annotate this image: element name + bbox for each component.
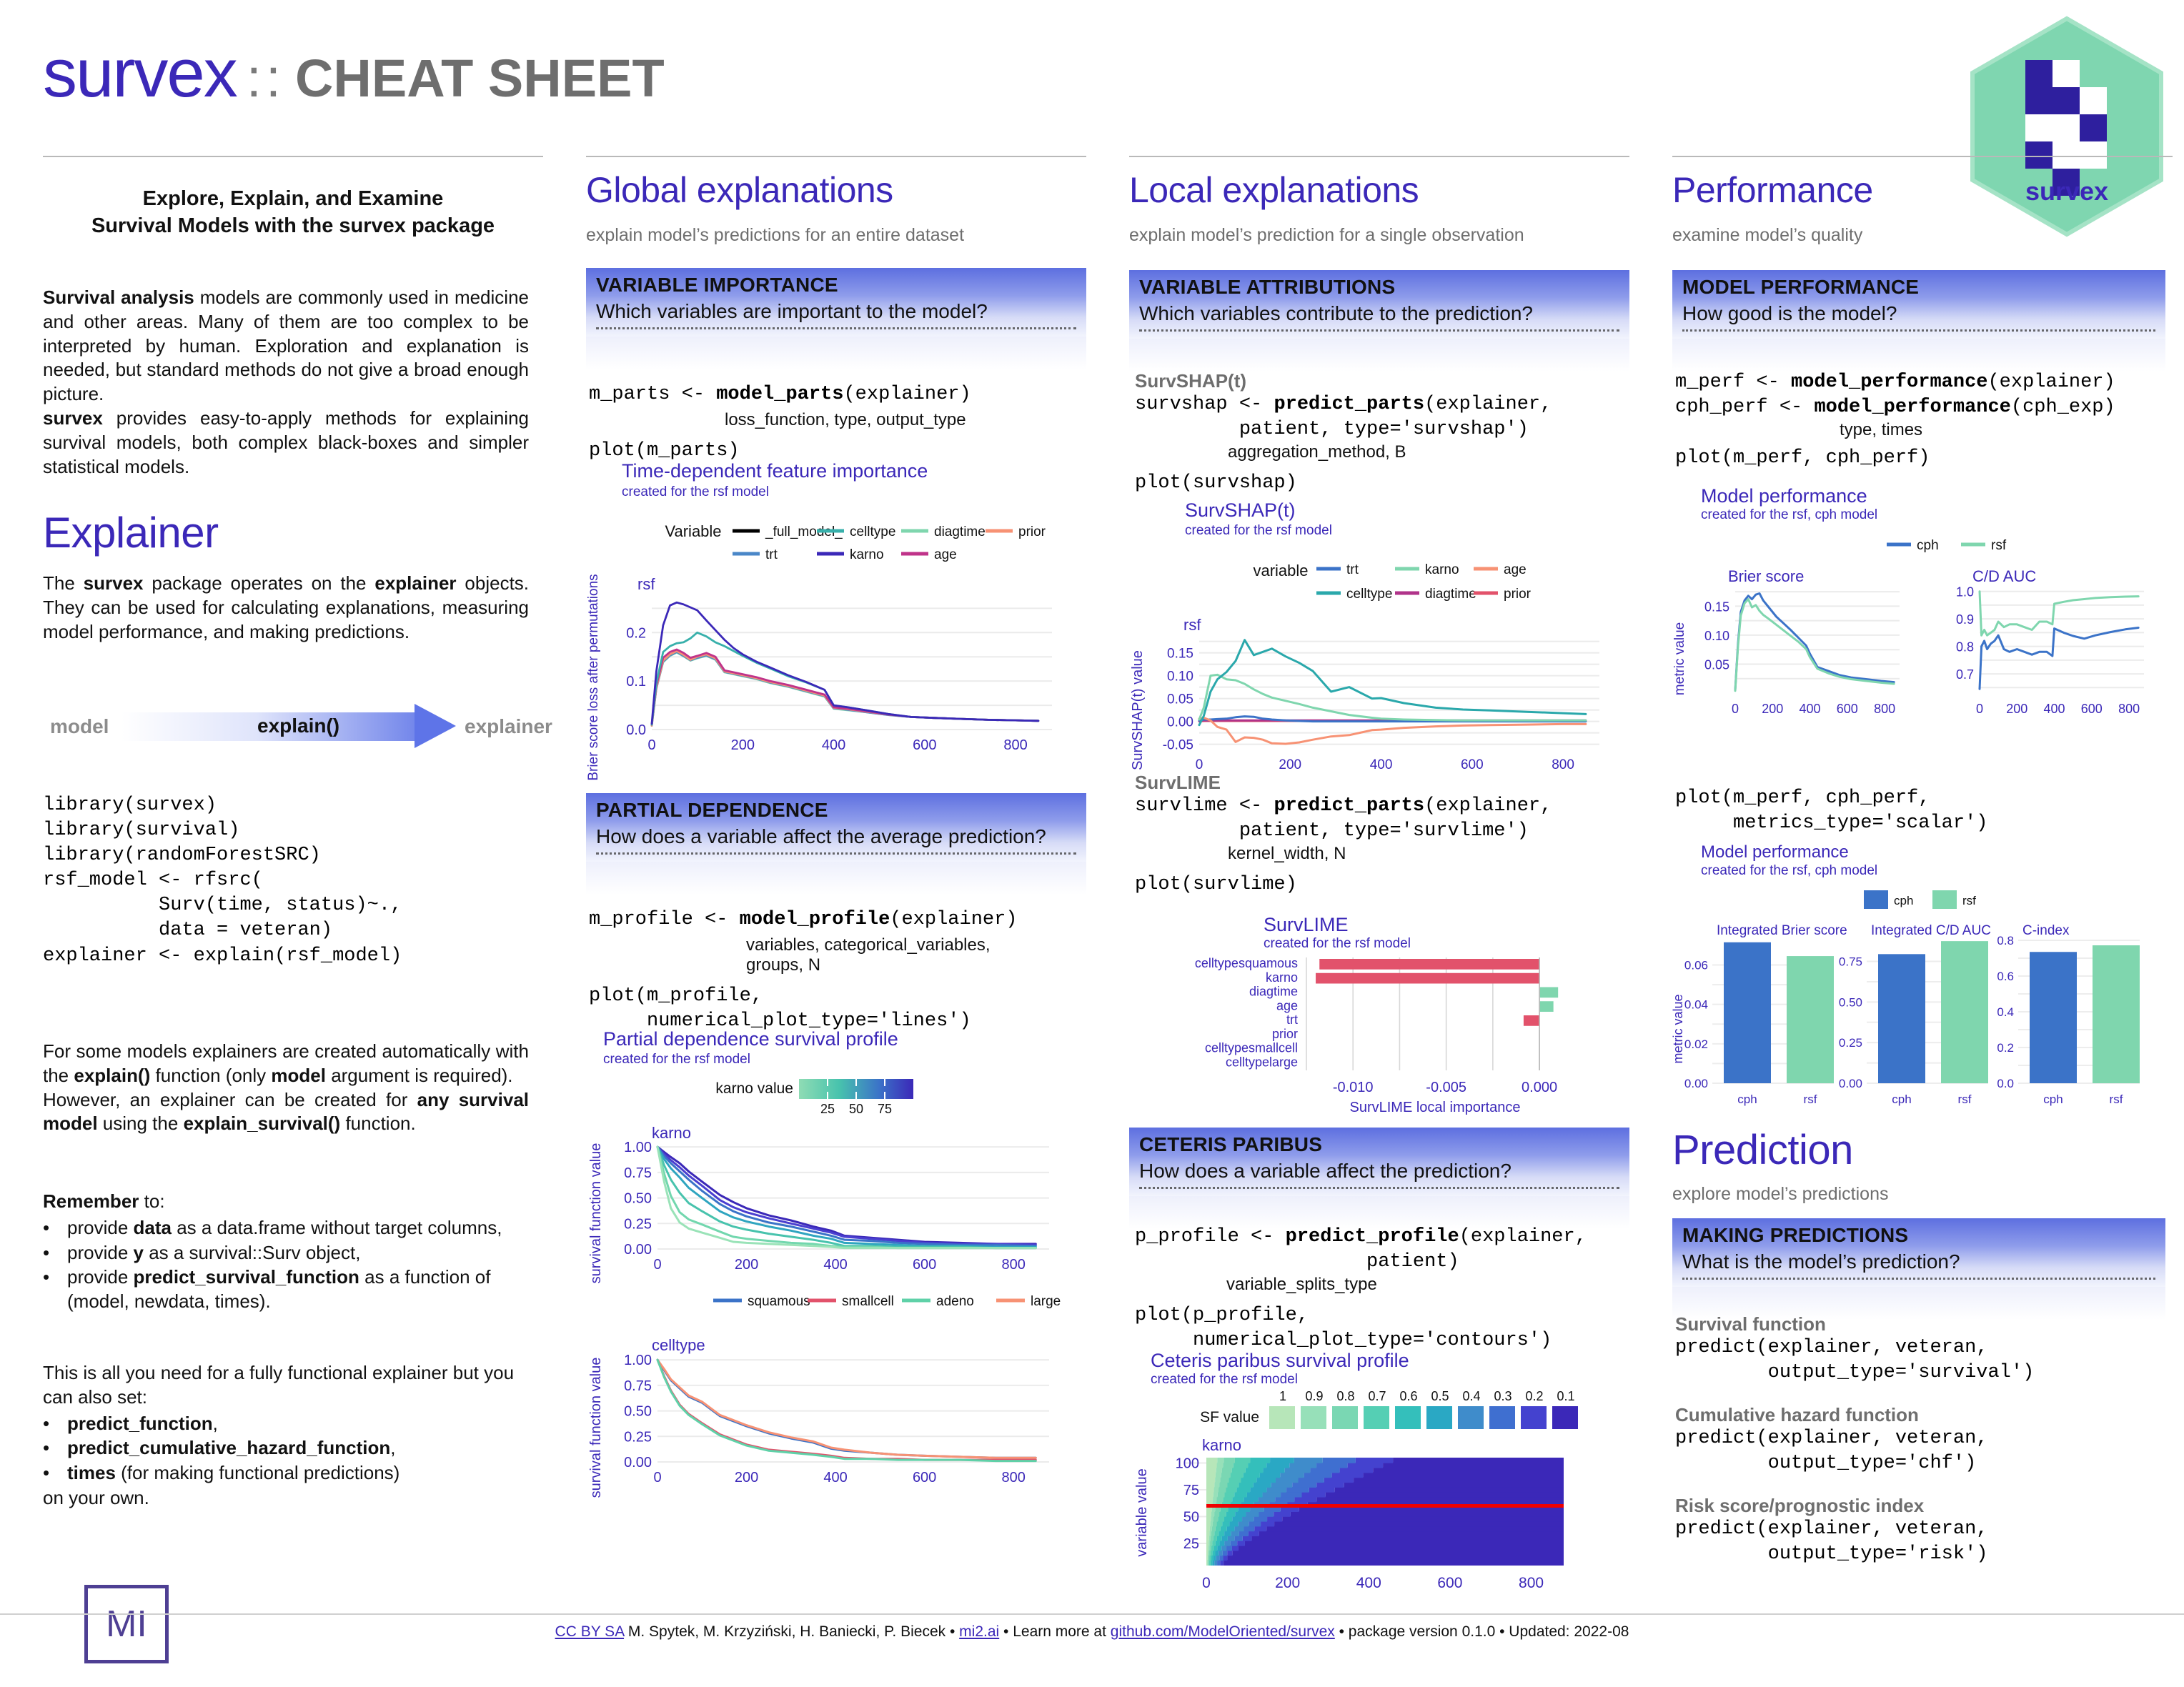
chart-variable-importance: Time-dependent feature importance create… xyxy=(586,461,1086,790)
svg-text:0.00: 0.00 xyxy=(1167,715,1193,730)
item-bold: y xyxy=(134,1242,144,1263)
code-plot: plot(m_perf, cph_perf) xyxy=(1675,446,2184,471)
chart-title: SurvLIME xyxy=(1264,915,1349,935)
code-args: variable_splits_type xyxy=(1226,1275,1649,1295)
svg-text:prior: prior xyxy=(1018,524,1046,539)
section-title-global: Global explanations xyxy=(586,171,893,209)
card-variable-attributions: VARIABLE ATTRIBUTIONS Which variables co… xyxy=(1129,270,1629,372)
svg-text:600: 600 xyxy=(1437,1575,1462,1591)
chart-subtitle: created for the rsf, cph model xyxy=(1701,507,1877,523)
svg-text:celltype: celltype xyxy=(850,524,895,539)
svg-text:400: 400 xyxy=(823,1257,847,1273)
code-fn: predict_parts xyxy=(1274,795,1424,817)
card-ceteris-paribus: CETERIS PARIBUS How does a variable affe… xyxy=(1129,1128,1629,1229)
svg-text:0.5: 0.5 xyxy=(1431,1389,1449,1403)
svg-text:diagtime: diagtime xyxy=(934,524,986,539)
code-args: aggregation_method, B xyxy=(1228,442,1649,462)
code-fn: model_performance xyxy=(1814,397,2010,418)
svg-text:rsf: rsf xyxy=(1958,1093,1972,1106)
explain-flow-diagram: model explain() explainer xyxy=(43,704,529,748)
bullet-icon: • xyxy=(43,1265,67,1314)
list-item: •provide y as a survival::Surv object, xyxy=(43,1241,529,1265)
chart-title: Ceteris paribus survival profile xyxy=(1151,1350,1409,1370)
remember-label: Remember xyxy=(43,1190,139,1212)
svg-text:400: 400 xyxy=(822,737,845,753)
svg-text:0.15: 0.15 xyxy=(1167,647,1193,662)
svg-text:karno: karno xyxy=(652,1124,691,1142)
svg-text:800: 800 xyxy=(1001,1470,1025,1486)
svg-text:Variable: Variable xyxy=(665,522,721,540)
explainer-code-block: library(survex) library(survival) librar… xyxy=(43,793,543,969)
list-item: •provide predict_survival_function as a … xyxy=(43,1265,529,1314)
card-banner: PARTIAL DEPENDENCE How does a variable a… xyxy=(586,793,1086,862)
rule-performance xyxy=(1672,156,2173,157)
code-c: (explainer) xyxy=(843,384,971,405)
card-question: How good is the model? xyxy=(1682,302,2155,325)
svg-text:celltypesmallcell: celltypesmallcell xyxy=(1205,1041,1298,1055)
svg-text:0.05: 0.05 xyxy=(1704,657,1729,672)
svg-text:karno: karno xyxy=(1202,1436,1241,1454)
section-subtitle-local: explain model’s prediction for a single … xyxy=(1129,225,1524,246)
svg-text:diagtime: diagtime xyxy=(1425,587,1476,602)
svg-text:celltype: celltype xyxy=(652,1336,705,1354)
svg-text:0.25: 0.25 xyxy=(624,1216,652,1232)
svg-text:0.2: 0.2 xyxy=(626,625,646,641)
svg-text:0.0: 0.0 xyxy=(626,722,646,738)
card-title: CETERIS PARIBUS xyxy=(1139,1133,1619,1156)
auto-b1: explain() xyxy=(74,1065,150,1086)
svg-text:25: 25 xyxy=(1183,1536,1199,1552)
section-subtitle-prediction: explore model’s predictions xyxy=(1672,1184,1888,1205)
svg-text:0.4: 0.4 xyxy=(1997,1005,2014,1019)
svg-text:200: 200 xyxy=(1762,702,1783,716)
card-question: Which variables contribute to the predic… xyxy=(1139,302,1619,325)
svg-text:0: 0 xyxy=(1202,1575,1211,1591)
bullet-icon: • xyxy=(43,1412,67,1436)
page-title: CHEAT SHEET xyxy=(295,48,665,109)
svg-text:800: 800 xyxy=(1874,702,1895,716)
also-outro: on your own. xyxy=(43,1486,529,1511)
code-line: m_profile <- model_profile(explainer) xyxy=(589,907,1089,932)
svg-text:400: 400 xyxy=(1370,757,1393,772)
divider xyxy=(1139,1187,1619,1189)
item-post: , xyxy=(390,1437,395,1458)
svg-text:0.50: 0.50 xyxy=(624,1404,652,1420)
svg-text:0.2: 0.2 xyxy=(1997,1041,2014,1055)
svg-text:0.0: 0.0 xyxy=(1997,1077,2014,1090)
item-bold: data xyxy=(134,1217,172,1238)
flow-label-model: model xyxy=(50,715,109,738)
chart-title: Time-dependent feature importance xyxy=(622,461,928,481)
svg-text:karno: karno xyxy=(1425,562,1459,577)
svg-text:Integrated C/D AUC: Integrated C/D AUC xyxy=(1871,923,1991,938)
svg-text:adeno: adeno xyxy=(936,1294,974,1309)
card-question: Which variables are important to the mod… xyxy=(596,300,1076,323)
group-label-survshap: SurvSHAP(t) xyxy=(1135,370,1649,392)
card-banner: CETERIS PARIBUS How does a variable affe… xyxy=(1129,1128,1629,1196)
svg-text:0.75: 0.75 xyxy=(1839,955,1862,969)
divider xyxy=(596,852,1076,855)
svg-text:75: 75 xyxy=(1183,1483,1199,1498)
title-separator: :: xyxy=(237,47,295,109)
chart-title: Model performance xyxy=(1701,486,1867,506)
optional-settings-list: This is all you need for a fully functio… xyxy=(43,1361,529,1511)
svg-text:age: age xyxy=(1504,562,1527,577)
svg-text:0.8: 0.8 xyxy=(1997,934,2014,947)
code-line: m_parts <- model_parts(explainer) xyxy=(589,382,1089,407)
code-c: (explainer, xyxy=(1459,1226,1587,1248)
remember-list: Remember to: •provide data as a data.fra… xyxy=(43,1190,529,1315)
code-line: survshap <- predict_parts(explainer, xyxy=(1135,392,1649,417)
svg-text:0: 0 xyxy=(1976,702,1983,716)
svg-text:0.05: 0.05 xyxy=(1167,692,1193,707)
svg-text:cph: cph xyxy=(1892,1093,1911,1106)
flow-label-explain: explain() xyxy=(257,715,339,737)
svg-text:cph: cph xyxy=(2043,1093,2063,1106)
block-scalar-code: plot(m_perf, cph_perf, metrics_type='sca… xyxy=(1675,786,2184,836)
card-question: How does a variable affect the average p… xyxy=(596,825,1076,848)
svg-text:celltype: celltype xyxy=(1346,587,1392,602)
prediction-code-2: output_type='risk') xyxy=(1675,1542,2184,1567)
code-a: m_parts <- xyxy=(589,384,716,405)
svg-text:0.00: 0.00 xyxy=(1839,1077,1862,1090)
svg-text:0.00: 0.00 xyxy=(624,1455,652,1470)
svg-text:200: 200 xyxy=(735,1257,758,1273)
svg-text:0.2: 0.2 xyxy=(1525,1389,1543,1403)
code-plot-1: plot(m_profile, xyxy=(589,984,1089,1009)
svg-text:diagtime: diagtime xyxy=(1249,985,1298,999)
card-question: How does a variable affect the predictio… xyxy=(1139,1160,1619,1183)
svg-text:-0.005: -0.005 xyxy=(1426,1080,1466,1095)
bullet-icon: • xyxy=(43,1241,67,1265)
chart-subtitle: created for the rsf model xyxy=(1185,523,1332,539)
section-subtitle-global: explain model’s predictions for an entir… xyxy=(586,225,964,246)
svg-text:age: age xyxy=(934,547,957,562)
svg-text:1.00: 1.00 xyxy=(624,1353,652,1368)
svg-text:0.50: 0.50 xyxy=(624,1191,652,1207)
card-partial-dependence: PARTIAL DEPENDENCE How does a variable a… xyxy=(586,793,1086,895)
svg-text:0.75: 0.75 xyxy=(624,1165,652,1181)
license-link[interactable]: CC BY SA xyxy=(555,1623,625,1640)
item-pre: provide xyxy=(67,1242,134,1263)
list-item: •provide data as a data.frame without ta… xyxy=(43,1216,529,1240)
block-survlime-code: SurvLIME survlime <- predict_parts(expla… xyxy=(1135,772,1649,897)
svg-text:0.1: 0.1 xyxy=(626,674,646,690)
svg-text:Brier score: Brier score xyxy=(1728,567,1804,585)
svg-text:0.4: 0.4 xyxy=(1462,1389,1480,1403)
svg-text:0.7: 0.7 xyxy=(1956,667,1974,682)
rule-left xyxy=(43,156,543,157)
svg-text:metric value: metric value xyxy=(1672,994,1685,1063)
tagline-line2: Survival Models with the survex package xyxy=(43,213,543,240)
exp-t1: The xyxy=(43,572,84,594)
svg-text:0.1: 0.1 xyxy=(1557,1389,1574,1403)
section-subtitle-performance: examine model’s quality xyxy=(1672,225,1862,246)
page-header: survex::CHEAT SHEET xyxy=(43,39,1043,125)
svg-text:0.04: 0.04 xyxy=(1684,998,1708,1012)
page-footer: CC BY SA M. Spytek, M. Krzyziński, H. Ba… xyxy=(0,1623,2184,1641)
auto-explainer-paragraph: For some models explainers are created a… xyxy=(43,1040,529,1136)
code-plot-1: plot(m_perf, cph_perf, xyxy=(1675,786,2184,811)
section-title-performance: Performance xyxy=(1672,171,1873,209)
mi2-link[interactable]: mi2.ai xyxy=(959,1623,999,1640)
card-fade xyxy=(586,862,1086,895)
svg-text:100: 100 xyxy=(1176,1456,1199,1472)
code-fn: model_profile xyxy=(740,909,890,930)
svg-text:large: large xyxy=(1031,1294,1061,1309)
svg-text:trt: trt xyxy=(1286,1012,1298,1027)
svg-text:1: 1 xyxy=(1279,1389,1286,1403)
code-c: (cph_exp) xyxy=(2011,397,2115,418)
svg-text:0.9: 0.9 xyxy=(1305,1389,1323,1403)
exp-t2: package operates on the xyxy=(144,572,375,594)
svg-text:800: 800 xyxy=(1552,757,1574,772)
code-plot-1: plot(p_profile, xyxy=(1135,1303,1649,1328)
card-variable-importance: VARIABLE IMPORTANCE Which variables are … xyxy=(586,268,1086,369)
svg-text:0.8: 0.8 xyxy=(1336,1389,1354,1403)
svg-text:rsf: rsf xyxy=(1991,538,2007,553)
bullet-icon: • xyxy=(43,1461,67,1486)
prediction-code-2: output_type='chf') xyxy=(1675,1451,2184,1476)
svg-text:C/D AUC: C/D AUC xyxy=(1972,567,2036,585)
chart-subtitle: created for the rsf model xyxy=(1151,1372,1298,1388)
code-line-2: patient, type='survshap') xyxy=(1135,417,1649,442)
code-plot: plot(survlime) xyxy=(1135,872,1649,897)
code-line-2: patient) xyxy=(1135,1250,1649,1275)
auto-t4: However, an explainer can be created for xyxy=(43,1089,417,1110)
svg-text:-0.05: -0.05 xyxy=(1163,738,1193,753)
svg-text:1.00: 1.00 xyxy=(624,1140,652,1155)
chart-title: Partial dependence survival profile xyxy=(603,1029,898,1049)
svg-text:400: 400 xyxy=(823,1470,847,1486)
intro-paragraph: Survival analysis models are commonly us… xyxy=(43,286,529,479)
prediction-code-1: predict(explainer, veteran, xyxy=(1675,1335,2184,1360)
item-post: as a survival::Surv object, xyxy=(144,1242,360,1263)
code-c: (explainer) xyxy=(1987,372,2115,393)
svg-text:metric value: metric value xyxy=(1672,622,1687,695)
chart-subtitle: created for the rsf model xyxy=(603,1052,750,1068)
svg-text:400: 400 xyxy=(1800,702,1821,716)
svg-text:survival function value: survival function value xyxy=(588,1358,604,1498)
item-bold: predict_function xyxy=(67,1413,213,1434)
prediction-block-label: Risk score/prognostic index xyxy=(1675,1495,2184,1517)
item-pre: provide xyxy=(67,1217,134,1238)
code-line-1: m_perf <- model_performance(explainer) xyxy=(1675,370,2184,395)
svg-text:0.25: 0.25 xyxy=(624,1429,652,1445)
svg-text:600: 600 xyxy=(913,1470,936,1486)
card-model-performance: MODEL PERFORMANCE How good is the model?… xyxy=(1672,270,2165,372)
svg-text:cph: cph xyxy=(1894,894,1913,907)
svg-text:age: age xyxy=(1276,998,1298,1012)
item-pre: provide xyxy=(67,1266,134,1288)
svg-text:200: 200 xyxy=(2006,702,2027,716)
code-fn: model_performance xyxy=(1791,372,1987,393)
intro-bold-2: survex xyxy=(43,407,103,429)
item-post: (for making functional predictions) xyxy=(116,1462,399,1483)
svg-text:rsf: rsf xyxy=(1804,1093,1817,1106)
rule-local xyxy=(1129,156,1629,157)
survex-hex-logo: survex xyxy=(1967,16,2167,237)
svg-text:400: 400 xyxy=(1356,1575,1381,1591)
svg-text:Brier score loss after permuta: Brier score loss after permutations xyxy=(586,574,601,780)
svg-text:0.06: 0.06 xyxy=(1684,958,1708,972)
list-item: •predict_function, xyxy=(43,1412,529,1436)
svg-text:rsf: rsf xyxy=(1183,616,1201,634)
svg-text:0.3: 0.3 xyxy=(1494,1389,1512,1403)
auto-t5: using the xyxy=(98,1113,184,1134)
divider xyxy=(1139,329,1619,332)
svg-text:survival function value: survival function value xyxy=(588,1143,604,1284)
footer-learn: • Learn more at xyxy=(999,1623,1111,1640)
svg-text:0.02: 0.02 xyxy=(1684,1037,1708,1051)
chart-subtitle: created for the rsf model xyxy=(622,484,769,500)
code-args: loss_function, type, output_type xyxy=(725,410,1089,430)
svg-text:SurvLIME local importance: SurvLIME local importance xyxy=(1350,1100,1521,1115)
svg-text:600: 600 xyxy=(2081,702,2103,716)
item-bold: times xyxy=(67,1462,116,1483)
svg-text:800: 800 xyxy=(1003,737,1027,753)
svg-text:karno: karno xyxy=(1266,970,1298,985)
arrow-head-icon xyxy=(415,704,456,748)
card-title: MODEL PERFORMANCE xyxy=(1682,276,2155,299)
code-a: survshap <- xyxy=(1135,394,1274,415)
svg-text:0.50: 0.50 xyxy=(1839,995,1862,1009)
tagline-line1: Explore, Explain, and Examine xyxy=(43,186,543,213)
svg-text:cph: cph xyxy=(1917,538,1939,553)
code-a: m_perf <- xyxy=(1675,372,1791,393)
svg-text:0.6: 0.6 xyxy=(1997,970,2014,983)
prediction-code-1: predict(explainer, veteran, xyxy=(1675,1426,2184,1451)
svg-text:600: 600 xyxy=(1461,757,1484,772)
card-banner: VARIABLE ATTRIBUTIONS Which variables co… xyxy=(1129,270,1629,339)
svg-text:0.6: 0.6 xyxy=(1399,1389,1417,1403)
svg-text:SF value: SF value xyxy=(1200,1409,1259,1425)
svg-text:800: 800 xyxy=(1001,1257,1025,1273)
code-fn: predict_profile xyxy=(1286,1226,1459,1248)
bullet-icon: • xyxy=(43,1216,67,1240)
chart-title: SurvSHAP(t) xyxy=(1185,500,1296,520)
svg-text:prior: prior xyxy=(1272,1027,1298,1041)
svg-text:50: 50 xyxy=(1183,1510,1199,1526)
svg-text:0.8: 0.8 xyxy=(1956,640,1974,655)
code-plot: plot(survshap) xyxy=(1135,471,1649,496)
code-line: p_profile <- predict_profile(explainer, xyxy=(1135,1225,1649,1250)
card-title: VARIABLE IMPORTANCE xyxy=(596,274,1076,297)
svg-text:rsf: rsf xyxy=(1962,894,1976,907)
divider xyxy=(1682,1278,2155,1280)
svg-text:variable: variable xyxy=(1253,562,1308,579)
divider xyxy=(596,327,1076,329)
code-fn: predict_parts xyxy=(1274,394,1424,415)
repo-link[interactable]: github.com/ModelOriented/survex xyxy=(1111,1623,1335,1640)
card-fade xyxy=(1129,339,1629,372)
rule-global xyxy=(586,156,1086,157)
code-c: (explainer, xyxy=(1424,394,1552,415)
card-banner: MODEL PERFORMANCE How good is the model? xyxy=(1672,270,2165,339)
code-args: kernel_width, N xyxy=(1228,844,1649,864)
svg-text:trt: trt xyxy=(1346,562,1359,577)
section-title-explainer: Explainer xyxy=(43,511,219,555)
chart-subtitle: created for the rsf, cph model xyxy=(1701,863,1877,879)
svg-text:0: 0 xyxy=(653,1257,661,1273)
svg-text:600: 600 xyxy=(913,1257,936,1273)
section-title-prediction: Prediction xyxy=(1672,1129,1853,1172)
svg-text:smallcell: smallcell xyxy=(842,1294,894,1309)
intro-text-2: provides easy-to-apply methods for expla… xyxy=(43,407,529,477)
intro-bold-1: Survival analysis xyxy=(43,287,194,308)
svg-text:200: 200 xyxy=(1279,757,1301,772)
bullet-icon: • xyxy=(43,1436,67,1460)
svg-text:trt: trt xyxy=(765,547,778,562)
svg-text:0: 0 xyxy=(647,737,655,753)
svg-text:-0.010: -0.010 xyxy=(1333,1080,1374,1095)
footer-divider xyxy=(0,1613,2184,1615)
section-title-local: Local explanations xyxy=(1129,171,1419,209)
flow-label-explainer: explainer xyxy=(465,715,552,738)
svg-text:0.00: 0.00 xyxy=(624,1242,652,1258)
auto-t2: function (only xyxy=(150,1065,271,1086)
exp-b1: survex xyxy=(84,572,144,594)
code-line-2: cph_perf <- model_performance(cph_exp) xyxy=(1675,395,2184,420)
code-args-1: variables, categorical_variables, xyxy=(746,935,1089,955)
svg-text:0.10: 0.10 xyxy=(1704,629,1729,643)
svg-text:rsf: rsf xyxy=(2110,1093,2123,1106)
prediction-block-label: Survival function xyxy=(1675,1313,2184,1335)
card-fade xyxy=(1672,339,2165,372)
code-args-2: groups, N xyxy=(746,955,1089,975)
svg-text:1.0: 1.0 xyxy=(1956,585,1974,599)
svg-text:cph: cph xyxy=(1737,1093,1757,1106)
code-c: (explainer, xyxy=(1424,795,1552,817)
divider xyxy=(1682,329,2155,332)
svg-text:celltypesquamous: celltypesquamous xyxy=(1195,956,1298,970)
code-a: cph_perf <- xyxy=(1675,397,1814,418)
list-item: •predict_cumulative_hazard_function, xyxy=(43,1436,529,1460)
chart-title: Model performance xyxy=(1701,843,1849,861)
svg-text:karno: karno xyxy=(850,547,884,562)
auto-b2: model xyxy=(271,1065,326,1086)
card-making-predictions: MAKING PREDICTIONS What is the model’s p… xyxy=(1672,1218,2165,1320)
svg-text:400: 400 xyxy=(2044,702,2065,716)
card-title: VARIABLE ATTRIBUTIONS xyxy=(1139,276,1619,299)
prediction-block-label: Cumulative hazard function xyxy=(1675,1404,2184,1426)
svg-text:600: 600 xyxy=(913,737,936,753)
svg-text:0.9: 0.9 xyxy=(1956,612,1974,627)
svg-text:0.15: 0.15 xyxy=(1704,599,1729,614)
auto-t6: function. xyxy=(340,1113,416,1134)
chart-subtitle: created for the rsf model xyxy=(1264,936,1411,952)
code-fn: model_parts xyxy=(716,384,843,405)
prediction-code-2: output_type='survival') xyxy=(1675,1360,2184,1385)
explainer-paragraph: The survex package operates on the expla… xyxy=(43,572,529,644)
remember-rest: to: xyxy=(139,1190,164,1212)
svg-text:squamous: squamous xyxy=(748,1294,810,1309)
svg-text:karno value: karno value xyxy=(715,1080,793,1097)
svg-text:variable value: variable value xyxy=(1134,1468,1150,1556)
code-args: type, times xyxy=(1840,420,2184,440)
svg-text:Integrated Brier score: Integrated Brier score xyxy=(1717,923,1847,938)
code-line: survlime <- predict_parts(explainer, xyxy=(1135,794,1649,819)
auto-b4: explain_survival() xyxy=(184,1113,341,1134)
code-plot-2: metrics_type='scalar') xyxy=(1675,811,2184,836)
svg-text:0.10: 0.10 xyxy=(1167,670,1193,685)
card-question: What is the model’s prediction? xyxy=(1682,1250,2155,1273)
card-title: MAKING PREDICTIONS xyxy=(1682,1224,2155,1247)
item-bold: predict_survival_function xyxy=(134,1266,359,1288)
svg-text:C-index: C-index xyxy=(2022,923,2070,938)
exp-b2: explainer xyxy=(374,572,456,594)
svg-text:200: 200 xyxy=(1275,1575,1300,1591)
